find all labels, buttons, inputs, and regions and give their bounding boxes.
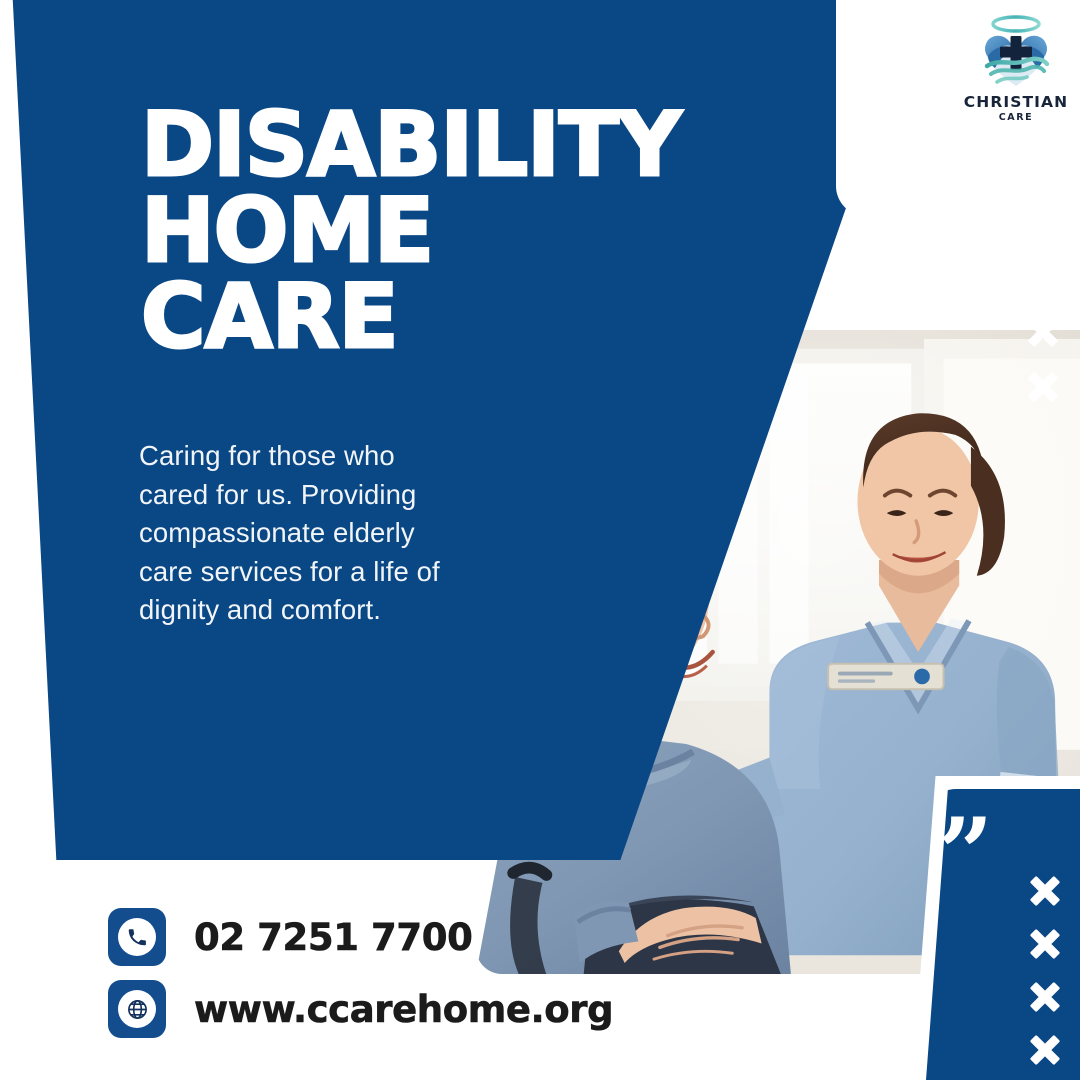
subcopy-text: Caring for those who cared for us. Provi…	[139, 437, 469, 630]
x-mark-icon	[1028, 262, 1058, 292]
headline-line-3: CARE	[141, 274, 821, 360]
phone-badge	[108, 908, 166, 966]
x-decoration-bottom	[1030, 876, 1060, 1080]
quote-mark-icon: ”	[938, 806, 993, 902]
website-badge	[108, 980, 166, 1038]
brand-logo[interactable]: CHRISTIAN CARE	[961, 14, 1071, 126]
x-mark-icon	[1030, 929, 1060, 959]
contact-row-phone[interactable]: 02 7251 7700	[108, 908, 613, 966]
phone-number: 02 7251 7700	[194, 916, 472, 959]
x-mark-icon	[1028, 317, 1058, 347]
logo-white-notch	[836, 0, 906, 216]
x-mark-icon	[1030, 982, 1060, 1012]
headline-line-1: DISABILITY	[141, 102, 821, 188]
headline-line-2: HOME	[141, 188, 821, 274]
phone-icon	[118, 918, 156, 956]
christian-care-heart-cross-halo-icon	[973, 14, 1059, 92]
website-url: www.ccarehome.org	[194, 988, 613, 1031]
contact-row-website[interactable]: www.ccarehome.org	[108, 980, 613, 1038]
page-title: DISABILITY HOME CARE	[141, 102, 821, 361]
logo-name: CHRISTIAN	[961, 93, 1071, 111]
blue-shape-bottom-left-corner	[70, 640, 270, 846]
logo-subname: CARE	[961, 112, 1071, 123]
x-mark-icon	[1030, 876, 1060, 906]
x-decoration-top	[1028, 262, 1058, 427]
x-mark-icon	[1030, 1035, 1060, 1065]
x-mark-icon	[1028, 372, 1058, 402]
contact-block: 02 7251 7700 www.ccarehome.org	[108, 908, 613, 1052]
poster-canvas: DISABILITY HOME CARE Caring for those wh…	[0, 0, 1080, 1080]
globe-icon	[118, 990, 156, 1028]
